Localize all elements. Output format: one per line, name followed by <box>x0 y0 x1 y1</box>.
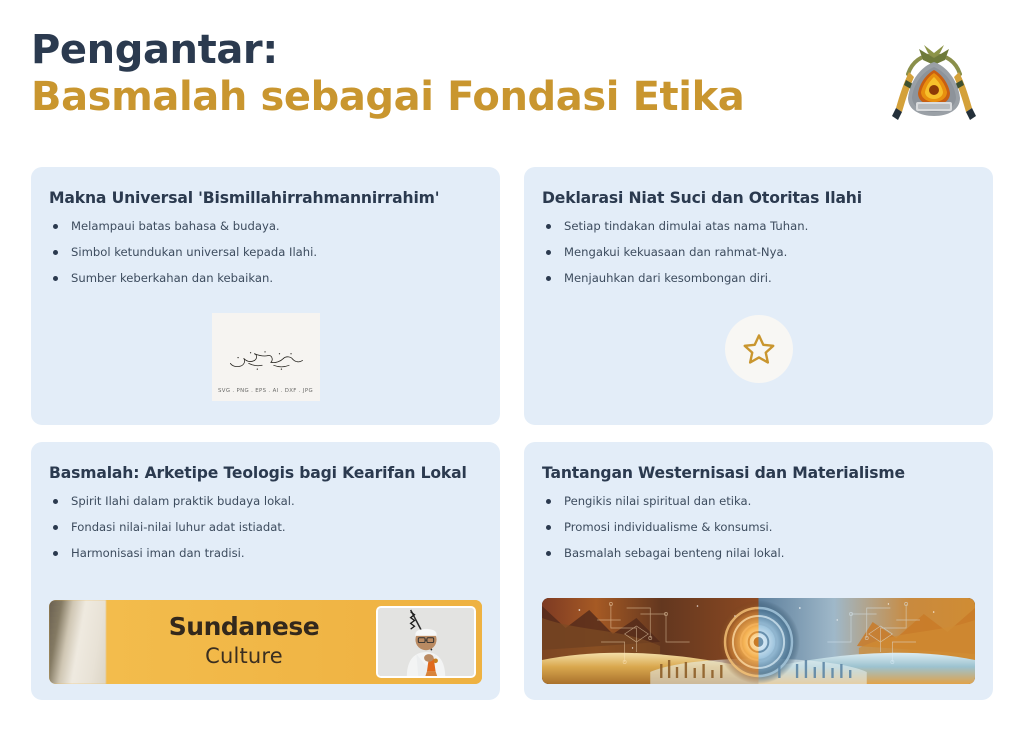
culture-banner-left-photo <box>49 600 106 684</box>
card-bullet-list: Melampaui batas bahasa & budaya. Simbol … <box>51 219 482 297</box>
bullet-item: Harmonisasi iman dan tradisi. <box>51 546 482 561</box>
calligraphy-format-caption: SVG . PNG . EPS . AI . DXF . JPG <box>212 388 320 394</box>
card-media-slot: SVG . PNG . EPS . AI . DXF . JPG <box>49 313 482 411</box>
card-title: Basmalah: Arketipe Teologis bagi Kearifa… <box>49 462 482 484</box>
card-bullet-list: Pengikis nilai spiritual dan etika. Prom… <box>544 494 975 572</box>
card-arketipe-teologis: Basmalah: Arketipe Teologis bagi Kearifa… <box>31 442 500 700</box>
bullet-item: Simbol ketundukan universal kepada Ilahi… <box>51 245 482 260</box>
bullet-item: Menjauhkan dari kesombongan diri. <box>544 271 975 286</box>
card-media-slot <box>542 598 975 686</box>
slide-header: Pengantar: Basmalah sebagai Fondasi Etik… <box>31 26 1000 146</box>
bullet-item: Sumber keberkahan dan kebaikan. <box>51 271 482 286</box>
card-media-slot <box>542 315 975 411</box>
bullet-item: Setiap tindakan dimulai atas nama Tuhan. <box>544 219 975 234</box>
bullet-item: Promosi individualisme & konsumsi. <box>544 520 975 535</box>
westernisasi-materialisme-image <box>542 598 975 684</box>
card-title: Deklarasi Niat Suci dan Otoritas Ilahi <box>542 187 975 209</box>
card-tantangan-westernisasi: Tantangan Westernisasi dan Materialisme … <box>524 442 993 700</box>
page-title: Pengantar: Basmalah sebagai Fondasi Etik… <box>31 26 744 120</box>
bismillah-calligraphy-image: SVG . PNG . EPS . AI . DXF . JPG <box>212 313 320 401</box>
card-title: Tantangan Westernisasi dan Materialisme <box>542 462 975 484</box>
card-bullet-list: Spirit Ilahi dalam praktik budaya lokal.… <box>51 494 482 572</box>
bullet-item: Pengikis nilai spiritual dan etika. <box>544 494 975 509</box>
culture-banner-title: Sundanese <box>169 614 319 639</box>
bullet-item: Fondasi nilai-nilai luhur adat istiadat. <box>51 520 482 535</box>
card-makna-universal: Makna Universal 'Bismillahirrahmannirrah… <box>31 167 500 425</box>
page-title-primary: Pengantar: <box>31 28 744 73</box>
institution-emblem-icon <box>888 36 980 124</box>
card-media-slot: Sundanese Culture <box>49 600 482 686</box>
star-badge <box>725 315 793 383</box>
sundanese-culture-image: Sundanese Culture <box>49 600 482 684</box>
card-bullet-list: Setiap tindakan dimulai atas nama Tuhan.… <box>544 219 975 297</box>
slide-root: Pengantar: Basmalah sebagai Fondasi Etik… <box>0 0 1024 731</box>
bullet-item: Mengakui kekuasaan dan rahmat-Nya. <box>544 245 975 260</box>
bullet-item: Spirit Ilahi dalam praktik budaya lokal. <box>51 494 482 509</box>
card-grid: Makna Universal 'Bismillahirrahmannirrah… <box>31 167 993 700</box>
culture-banner-subtitle: Culture <box>205 643 283 669</box>
page-title-accent: Basmalah sebagai Fondasi Etika <box>31 75 744 120</box>
bullet-item: Basmalah sebagai benteng nilai lokal. <box>544 546 975 561</box>
culture-banner-portrait-photo <box>376 606 476 678</box>
card-deklarasi-niat-suci: Deklarasi Niat Suci dan Otoritas Ilahi S… <box>524 167 993 425</box>
star-icon <box>741 331 777 367</box>
bullet-item: Melampaui batas bahasa & budaya. <box>51 219 482 234</box>
card-title: Makna Universal 'Bismillahirrahmannirrah… <box>49 187 482 209</box>
